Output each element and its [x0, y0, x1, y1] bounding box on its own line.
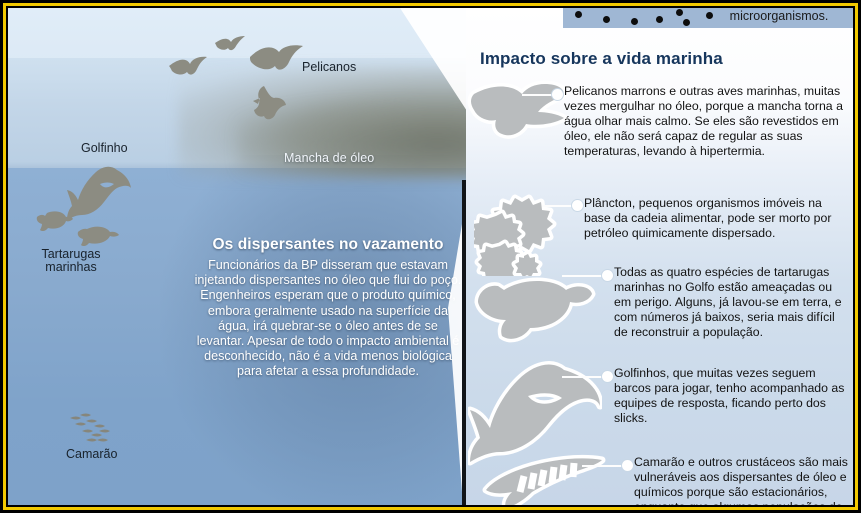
oil-droplet-icon: [676, 9, 683, 16]
fact-text-camarao: Camarão e outros crustáceos são mais vul…: [634, 455, 848, 505]
oil-droplet-band: microorganismos.: [563, 8, 853, 28]
page-title: Impacto sobre a vida marinha: [480, 49, 723, 69]
shrimp-school-icon: [66, 413, 116, 446]
fact-text-pelicanos: Pelicanos marrons e outras aves marinhas…: [564, 84, 846, 159]
turtle-icon: [76, 223, 120, 249]
infographic-root: Pelicanos Golfinho Tartarugas marinhas C…: [0, 0, 861, 513]
turtle-icon: [34, 208, 74, 235]
oil-droplet-icon: [656, 16, 663, 23]
label-golfinho: Golfinho: [81, 142, 128, 155]
label-pelicanos: Pelicanos: [302, 61, 356, 74]
label-mancha-de-oleo: Mancha de óleo: [284, 151, 374, 165]
fact-text-golfinhos: Golfinhos, que muitas vezes seguem barco…: [614, 366, 848, 426]
pelican-silhouette-icon: [466, 74, 570, 150]
bullet-camarao: [622, 460, 633, 471]
infographic-stage: Pelicanos Golfinho Tartarugas marinhas C…: [8, 8, 853, 505]
label-tartarugas-marinhas: Tartarugas marinhas: [32, 248, 110, 274]
pelican-icon: [168, 55, 214, 81]
label-camarao: Camarão: [66, 448, 117, 461]
oil-droplet-icon: [575, 11, 582, 18]
fact-text-plancton: Plâncton, pequenos organismos imóveis na…: [584, 196, 846, 241]
vertical-divider: [462, 180, 466, 505]
pelican-icon: [248, 44, 306, 76]
turtle-silhouette-icon: [468, 272, 596, 348]
dolphin-icon: [65, 163, 133, 227]
dispersants-callout: Os dispersantes no vazamento Funcionário…: [194, 236, 462, 380]
oil-droplet-icon: [683, 19, 690, 26]
bullet-pelicanos: [552, 89, 563, 100]
dispersants-title: Os dispersantes no vazamento: [194, 236, 462, 254]
bullet-golfinhos: [602, 371, 613, 382]
fact-text-tartarugas: Todas as quatro espécies de tartarugas m…: [614, 265, 848, 340]
microorganisms-caption: microorganismos.: [705, 9, 853, 23]
oil-droplet-icon: [603, 16, 610, 23]
pelican-icon: [248, 84, 288, 122]
dispersants-body: Funcionários da BP disseram que estavam …: [194, 258, 462, 380]
pelican-icon: [214, 35, 248, 55]
shrimp-silhouette-icon: [476, 454, 606, 505]
right-info-panel: Impacto sobre a vida marinha: [466, 8, 853, 505]
oil-droplet-icon: [631, 18, 638, 25]
bullet-plancton: [572, 200, 583, 211]
bullet-tartarugas: [602, 270, 613, 281]
